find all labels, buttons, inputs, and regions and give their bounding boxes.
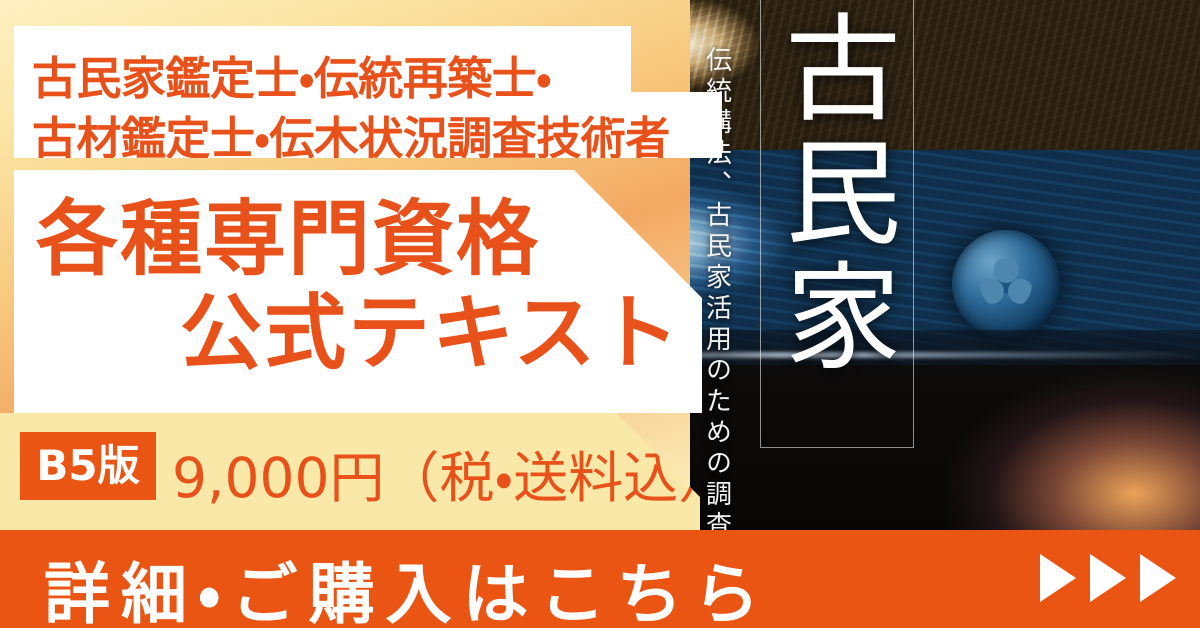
family-crest-medallion-icon	[952, 230, 1060, 338]
qualifications-line-1: 古民家鑑定士・伝統再築士・	[32, 42, 551, 107]
promotional-banner: 伝統構法、古民家活用のための調査と再生の 古民家 古民家鑑定士・伝統再築士・ 古…	[0, 0, 1200, 628]
qualifications-line-2: 古材鑑定士・伝木状況調査技術者	[32, 102, 670, 167]
qualifications-panel: 古民家鑑定士・伝統再築士・ 古材鑑定士・伝木状況調査技術者	[14, 26, 722, 158]
chevron-right-icon-1	[1040, 554, 1076, 602]
book-cover-title: 古民家	[781, 8, 893, 380]
price-strip: B5版 9,000円（税・送料込）	[0, 413, 700, 530]
chevron-right-icon-2	[1090, 554, 1126, 602]
chevron-right-icon-3	[1140, 554, 1176, 602]
cta-bar[interactable]: 詳細・ご購入はこちら	[0, 530, 1200, 628]
cta-label: 詳細・ご購入はこちら	[44, 541, 770, 628]
cover-warm-glow	[900, 330, 1200, 540]
book-cover-photo	[600, 0, 1200, 540]
format-badge: B5版	[20, 432, 156, 500]
cta-arrow-group	[1040, 554, 1176, 602]
headline-line-2: 公式テキスト	[180, 266, 682, 385]
headline-panel: 各種専門資格 公式テキスト	[14, 170, 702, 413]
